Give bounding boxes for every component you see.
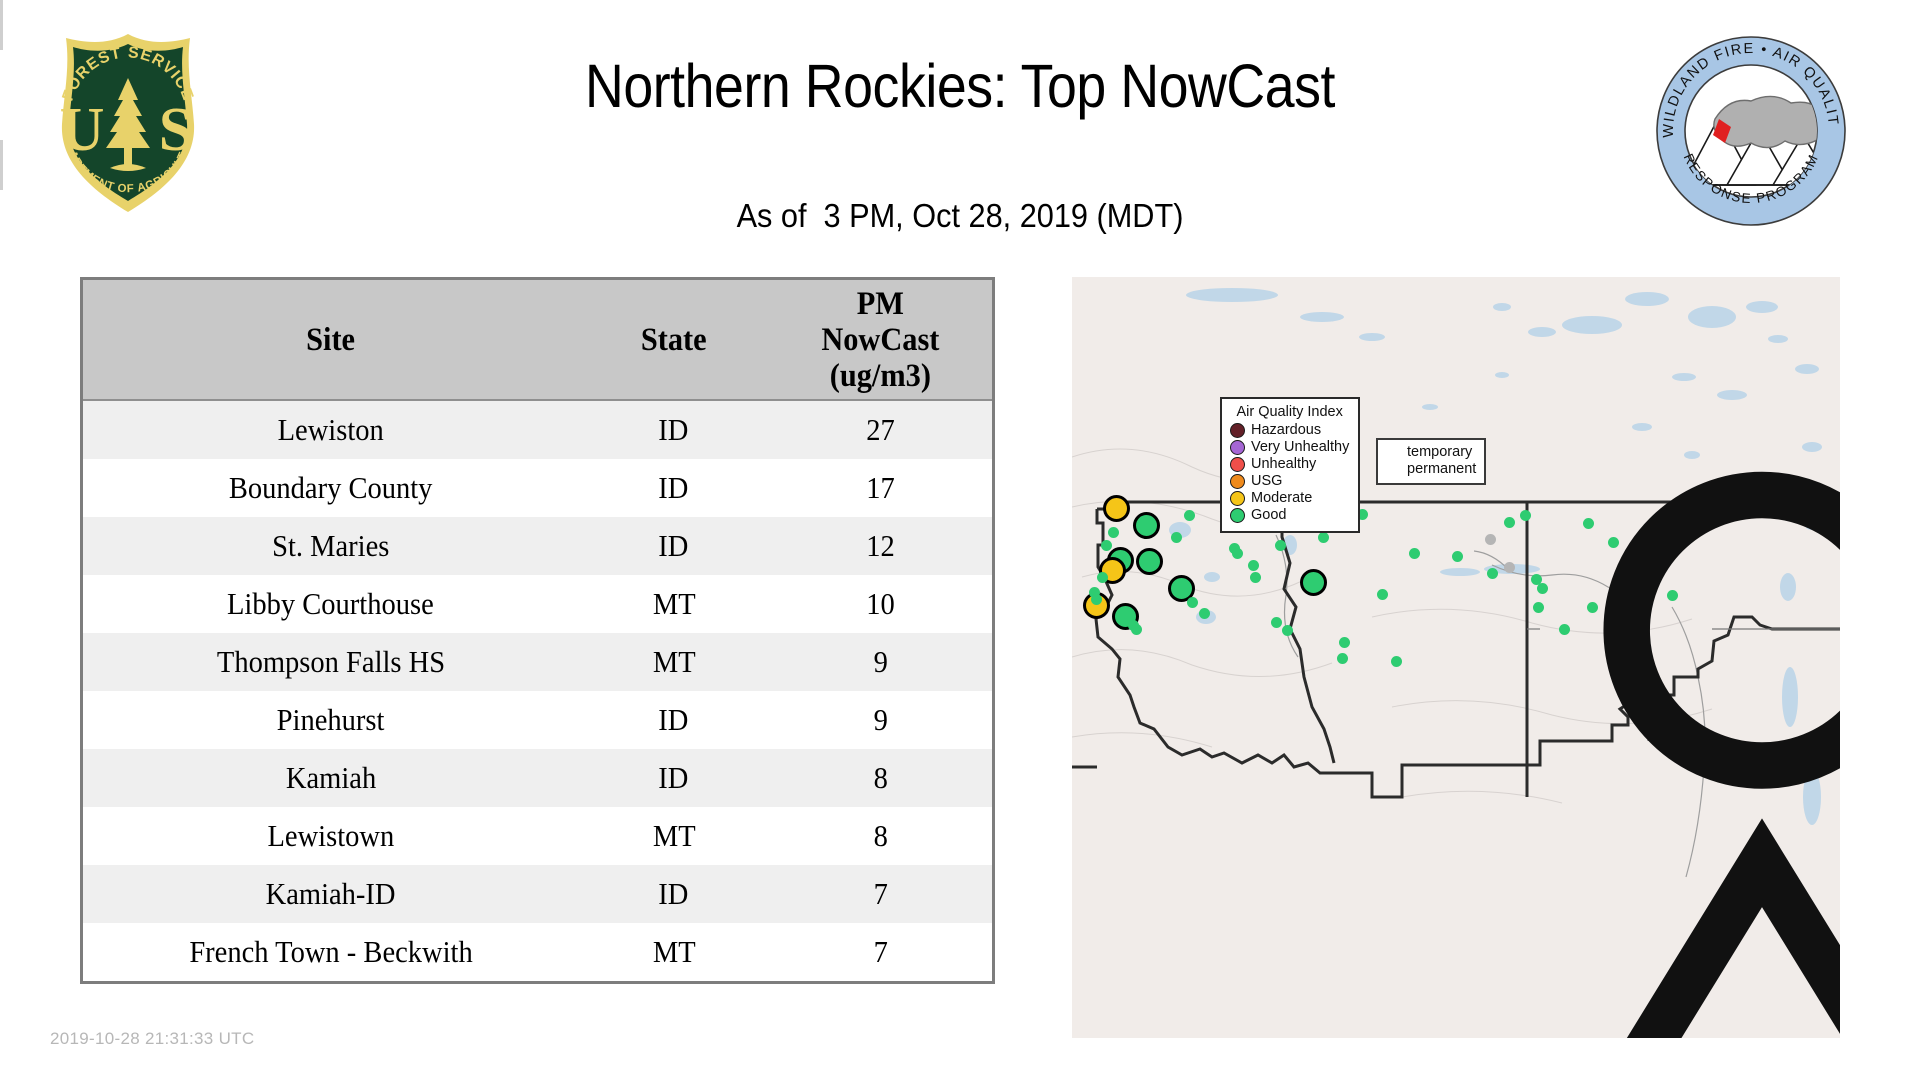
station-dot[interactable] [1108, 527, 1119, 538]
aqi-label-unhealthy: Unhealthy [1251, 457, 1316, 472]
station-dot[interactable] [1339, 637, 1350, 648]
station-dot[interactable] [1250, 572, 1261, 583]
svg-text:U: U [60, 96, 105, 164]
aqi-legend-title: Air Quality Index [1230, 404, 1349, 420]
station-dot[interactable] [1184, 510, 1195, 521]
cell-state: MT [578, 575, 769, 633]
table-row[interactable]: French Town - Beckwith MT 7 [83, 923, 992, 981]
table-row[interactable]: Kamiah-ID ID 7 [83, 865, 992, 923]
aqi-legend-item-hazardous: Hazardous [1230, 422, 1349, 439]
nowcast-table-container: Site State PM NowCast (ug/m3) Lewiston I… [80, 277, 995, 984]
cell-state: MT [578, 633, 769, 691]
slide-root: FOREST SERVICE DEPARTMENT OF AGRICULTURE… [0, 0, 1920, 1080]
aqi-label-moderate: Moderate [1251, 491, 1312, 506]
aqi-label-hazardous: Hazardous [1251, 423, 1321, 438]
cell-site: Boundary County [83, 459, 578, 517]
cell-site: Libby Courthouse [83, 575, 578, 633]
circle-icon [1627, 495, 1840, 766]
column-header-pm-line3: (ug/m3) [778, 358, 983, 394]
column-header-state-label: State [641, 322, 707, 358]
cell-site: Lewistown [83, 807, 578, 865]
station-dot[interactable] [1187, 597, 1198, 608]
aqi-legend: Air Quality Index Hazardous Very Unhealt… [1220, 397, 1360, 533]
aqi-label-usg: USG [1251, 474, 1282, 489]
station-dot[interactable] [1101, 540, 1112, 551]
aqi-swatch-unhealthy [1230, 457, 1245, 472]
left-edge-artifact [0, 0, 3, 50]
station-dot[interactable] [1318, 532, 1329, 543]
column-header-site-label: Site [306, 322, 355, 358]
cell-site: Thompson Falls HS [83, 633, 578, 691]
nowcast-table: Site State PM NowCast (ug/m3) Lewiston I… [83, 280, 992, 981]
aqi-swatch-hazardous [1230, 423, 1245, 438]
cell-value: 10 [769, 575, 992, 633]
station-dot[interactable] [1091, 594, 1102, 605]
station-dot[interactable] [1171, 532, 1182, 543]
aqi-legend-item-unhealthy: Unhealthy [1230, 456, 1349, 473]
page-title: Northern Rockies: Top NowCast [115, 52, 1805, 120]
station-marker-good[interactable] [1136, 548, 1163, 575]
station-marker-good[interactable] [1300, 569, 1327, 596]
cell-site: Pinehurst [83, 691, 578, 749]
cell-value: 7 [769, 865, 992, 923]
triangle-icon [1593, 863, 1840, 1038]
table-row[interactable]: Lewistown MT 8 [83, 807, 992, 865]
cell-value: 9 [769, 691, 992, 749]
page-subtitle: As of 3 PM, Oct 28, 2019 (MDT) [67, 196, 1853, 236]
column-header-pm-nowcast: PM NowCast (ug/m3) [769, 280, 992, 400]
cell-value: 27 [769, 400, 992, 459]
cell-state: MT [578, 923, 769, 981]
aqi-swatch-very-unhealthy [1230, 440, 1245, 455]
table-row[interactable]: Pinehurst ID 9 [83, 691, 992, 749]
cell-state: ID [578, 865, 769, 923]
table-row[interactable]: Kamiah ID 8 [83, 749, 992, 807]
table-row[interactable]: St. Maries ID 12 [83, 517, 992, 575]
station-dot[interactable] [1337, 653, 1348, 664]
column-header-pm-line2: NowCast [778, 322, 983, 358]
cell-value: 12 [769, 517, 992, 575]
station-dot[interactable] [1131, 624, 1142, 635]
cell-value: 9 [769, 633, 992, 691]
cell-value: 7 [769, 923, 992, 981]
aqi-swatch-usg [1230, 474, 1245, 489]
aqi-label-very-unhealthy: Very Unhealthy [1251, 440, 1349, 455]
station-dot[interactable] [1097, 572, 1108, 583]
station-marker-moderate[interactable] [1103, 495, 1130, 522]
station-dot[interactable] [1232, 548, 1243, 559]
cell-site: Kamiah [83, 749, 578, 807]
wildland-fire-air-quality-response-program-logo: WILDLAND FIRE • AIR QUALITY RESPONSE PRO… [1653, 33, 1849, 229]
cell-value: 17 [769, 459, 992, 517]
cell-state: ID [578, 749, 769, 807]
cell-site: Lewiston [83, 400, 578, 459]
aqi-label-good: Good [1251, 508, 1286, 523]
cell-state: ID [578, 517, 769, 575]
cell-state: ID [578, 400, 769, 459]
left-edge-artifact-2 [0, 140, 3, 190]
generation-timestamp: 2019-10-28 21:31:33 UTC [50, 1029, 254, 1049]
aqi-legend-item-moderate: Moderate [1230, 490, 1349, 507]
table-row[interactable]: Libby Courthouse MT 10 [83, 575, 992, 633]
column-header-pm-line1: PM [778, 286, 983, 322]
cell-state: ID [578, 691, 769, 749]
table-body: Lewiston ID 27 Boundary County ID 17 St.… [83, 400, 992, 981]
station-dot[interactable] [1271, 617, 1282, 628]
cell-value: 8 [769, 807, 992, 865]
station-dot[interactable] [1199, 608, 1210, 619]
cell-state: ID [578, 459, 769, 517]
table-header-row: Site State PM NowCast (ug/m3) [83, 280, 992, 400]
cell-site: French Town - Beckwith [83, 923, 578, 981]
aqi-swatch-good [1230, 508, 1245, 523]
station-dot[interactable] [1275, 540, 1286, 551]
aqi-swatch-moderate [1230, 491, 1245, 506]
cell-value: 8 [769, 749, 992, 807]
air-quality-map[interactable]: Air Quality Index Hazardous Very Unhealt… [1072, 277, 1840, 1038]
table-header: Site State PM NowCast (ug/m3) [83, 280, 992, 400]
cell-site: Kamiah-ID [83, 865, 578, 923]
aqi-legend-item-usg: USG [1230, 473, 1349, 490]
column-header-site: Site [83, 280, 578, 400]
station-marker-good[interactable] [1133, 512, 1160, 539]
station-dot[interactable] [1282, 625, 1293, 636]
monitor-type-legend: temporary permanent [1376, 438, 1486, 485]
column-header-state: State [578, 280, 769, 400]
aqi-legend-item-good: Good [1230, 507, 1349, 524]
station-dot[interactable] [1248, 560, 1259, 571]
table-row[interactable]: Lewiston ID 27 [83, 400, 992, 459]
table-row[interactable]: Boundary County ID 17 [83, 459, 992, 517]
cell-site: St. Maries [83, 517, 578, 575]
cell-state: MT [578, 807, 769, 865]
table-row[interactable]: Thompson Falls HS MT 9 [83, 633, 992, 691]
aqi-legend-item-very-unhealthy: Very Unhealthy [1230, 439, 1349, 456]
